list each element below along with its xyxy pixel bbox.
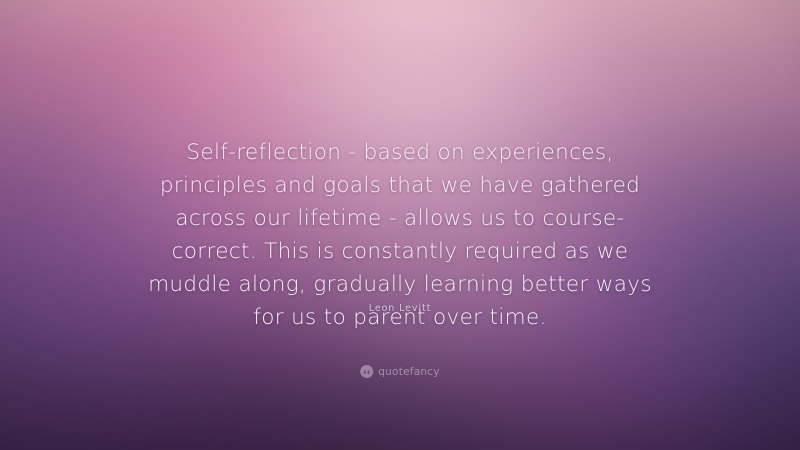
- content-layer: Self-reflection - based on experiences, …: [0, 0, 800, 450]
- watermark-brand: quotefancy: [378, 366, 440, 378]
- quote-mark-icon: [360, 365, 373, 378]
- watermark[interactable]: quotefancy: [360, 365, 440, 378]
- quote-author: Leon Levitt: [369, 303, 431, 314]
- quote-wallpaper: Self-reflection - based on experiences, …: [0, 0, 800, 450]
